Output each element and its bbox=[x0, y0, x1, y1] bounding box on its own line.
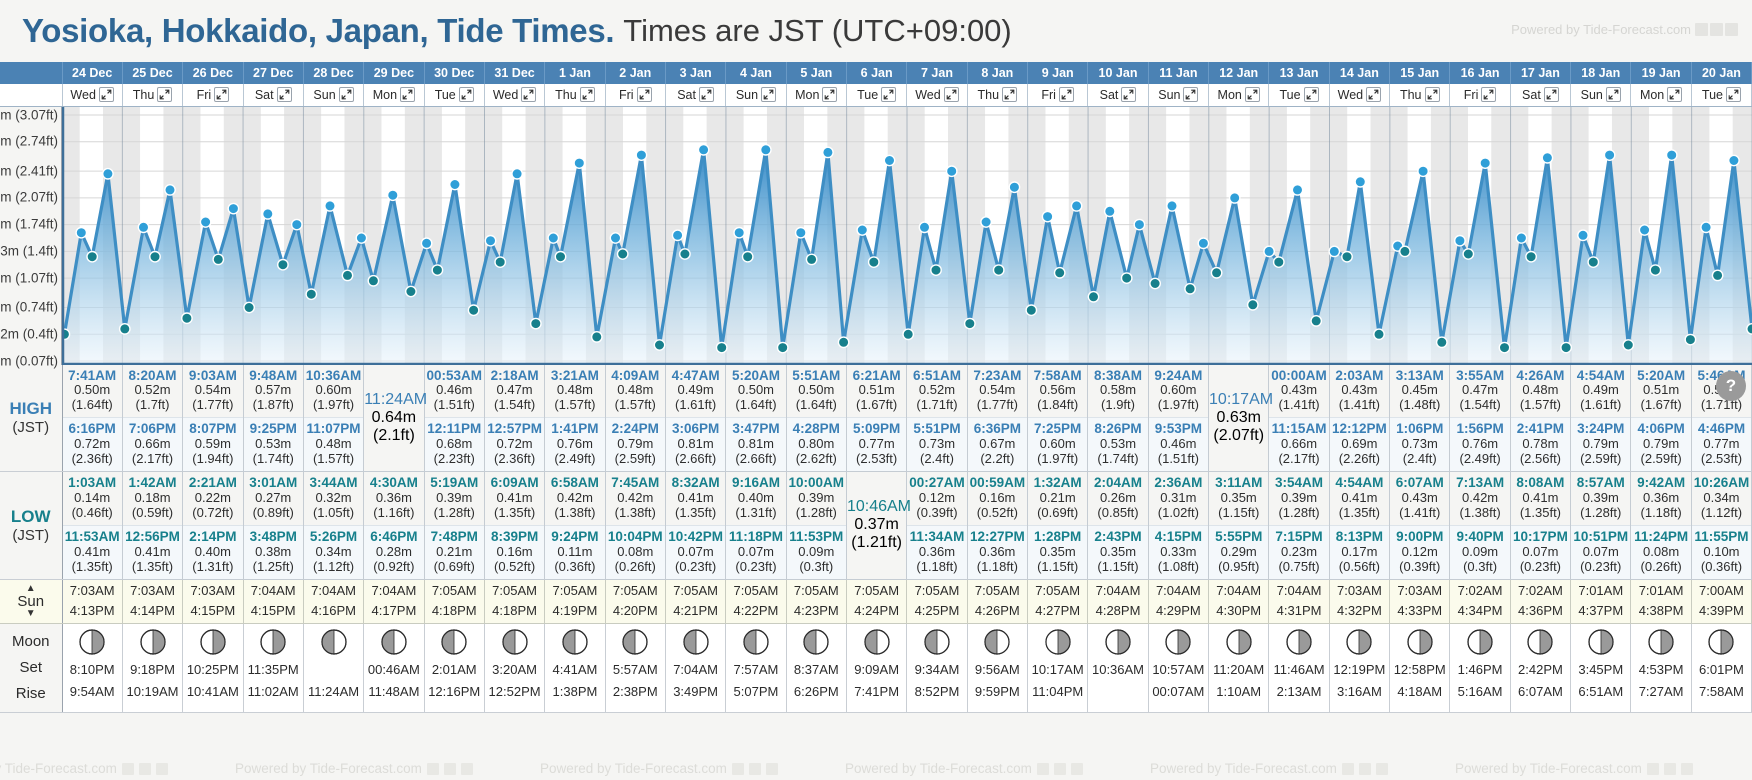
weekday-label-2: Fri bbox=[197, 88, 212, 102]
date-header-25[interactable]: 18 Jan bbox=[1571, 62, 1631, 84]
sun-cell-24: 7:02AM 4:36PM bbox=[1510, 579, 1570, 623]
tide-chart: 0.94m (3.07ft)0.84m (2.74ft)0.73m (2.41f… bbox=[0, 107, 1752, 365]
high-cell-24: 4:26AM 0.48m (1.57ft) 2:41PM 0.78m (2.56… bbox=[1510, 365, 1570, 472]
expand-day-icon-2[interactable] bbox=[214, 87, 229, 102]
high-meters: 0.73m bbox=[1390, 437, 1449, 452]
expand-day-icon-12[interactable] bbox=[822, 87, 837, 102]
high-cell-13: 6:21AM 0.51m (1.67ft) 5:09PM 0.77m (2.53… bbox=[846, 365, 906, 472]
expand-day-icon-13[interactable] bbox=[881, 87, 896, 102]
high-meters: 0.43m bbox=[1269, 383, 1328, 398]
high-event: 4:09AM 0.48m (1.57ft) bbox=[606, 365, 665, 418]
high-event: 7:23AM 0.54m (1.77ft) bbox=[968, 365, 1027, 418]
high-meters: 0.79m bbox=[1571, 437, 1630, 452]
moon-phase-icon bbox=[1406, 628, 1434, 659]
expand-day-icon-16[interactable] bbox=[1059, 87, 1074, 102]
date-header-22[interactable]: 15 Jan bbox=[1390, 62, 1450, 84]
moonrise-time: 4:18AM bbox=[1394, 684, 1446, 699]
low-event: 8:13PM 0.17m (0.56ft) bbox=[1330, 525, 1389, 579]
expand-day-icon-6[interactable] bbox=[459, 87, 474, 102]
weekday-cell-8: Thu bbox=[545, 84, 605, 106]
sun-cell-10: 7:05AM 4:21PM bbox=[665, 579, 725, 623]
low-event: 2:21AM 0.22m (0.72ft) bbox=[183, 472, 242, 525]
low-time: 2:43PM bbox=[1088, 529, 1147, 545]
sun-cell-2: 7:03AM 4:15PM bbox=[183, 579, 243, 623]
weekday-cell-7: Wed bbox=[484, 84, 544, 106]
moon-phase-icon bbox=[1587, 628, 1615, 659]
expand-day-icon-25[interactable] bbox=[1606, 87, 1621, 102]
date-header-24[interactable]: 17 Jan bbox=[1510, 62, 1570, 84]
low-time: 7:45AM bbox=[606, 475, 665, 491]
expand-day-icon-20[interactable] bbox=[1304, 87, 1319, 102]
high-meters: 0.60m bbox=[1028, 437, 1087, 452]
moon-phase-icon bbox=[802, 628, 830, 659]
low-event: 3:01AM 0.27m (0.89ft) bbox=[244, 472, 303, 525]
high-feet: (2.56ft) bbox=[1511, 452, 1570, 467]
high-time: 1:41PM bbox=[545, 421, 604, 437]
date-header-0[interactable]: 24 Dec bbox=[62, 62, 122, 84]
date-header-21[interactable]: 14 Jan bbox=[1329, 62, 1389, 84]
date-header-2[interactable]: 26 Dec bbox=[183, 62, 243, 84]
weekday-label-27: Tue bbox=[1702, 88, 1723, 102]
expand-day-icon-10[interactable] bbox=[699, 87, 714, 102]
weekday-cell-14: Wed bbox=[907, 84, 967, 106]
high-event: 5:20AM 0.50m (1.64ft) bbox=[726, 365, 785, 418]
tide-chart-cell: 0.94m (3.07ft)0.84m (2.74ft)0.73m (2.41f… bbox=[0, 106, 1752, 365]
date-header-14[interactable]: 7 Jan bbox=[907, 62, 967, 84]
sun-cell-25: 7:01AM 4:37PM bbox=[1571, 579, 1631, 623]
sunset-time: 4:36PM bbox=[1511, 601, 1570, 621]
low-event: 7:45AM 0.42m (1.38ft) bbox=[606, 472, 665, 525]
date-header-11[interactable]: 4 Jan bbox=[726, 62, 786, 84]
moon-cell-18: 10:57AM 00:07AM bbox=[1148, 623, 1208, 712]
high-meters: 0.53m bbox=[1088, 437, 1147, 452]
date-header-3[interactable]: 27 Dec bbox=[243, 62, 303, 84]
expand-day-icon-3[interactable] bbox=[277, 87, 292, 102]
high-time: 4:26AM bbox=[1511, 368, 1570, 384]
high-tide-label: HIGH (JST) bbox=[0, 365, 62, 472]
footer-watermark-icon-3 bbox=[1071, 763, 1083, 775]
high-time: 4:09AM bbox=[606, 368, 665, 384]
low-event: 8:08AM 0.41m (1.35ft) bbox=[1511, 472, 1570, 525]
moon-label-cell: Moon Set Rise bbox=[0, 623, 62, 712]
expand-day-icon-0[interactable] bbox=[99, 87, 114, 102]
sunset-time: 4:15PM bbox=[244, 601, 303, 621]
moonset-time: 9:18PM bbox=[126, 662, 178, 677]
high-feet: (1.48ft) bbox=[1390, 398, 1449, 413]
low-event: 2:14PM 0.40m (1.31ft) bbox=[183, 525, 242, 579]
moonset-time: 11:20AM bbox=[1213, 662, 1264, 677]
high-feet: (2.66ft) bbox=[726, 452, 785, 467]
low-feet: (1.18ft) bbox=[968, 560, 1027, 575]
high-feet: (1.54ft) bbox=[485, 398, 544, 413]
high-time: 11:15AM bbox=[1269, 421, 1328, 437]
high-event: 2:24PM 0.79m (2.59ft) bbox=[606, 417, 665, 471]
high-feet: (2.59ft) bbox=[1631, 452, 1690, 467]
high-feet: (2.17ft) bbox=[123, 452, 182, 467]
low-event: 00:59AM 0.16m (0.52ft) bbox=[968, 472, 1027, 525]
low-feet: (1.28ft) bbox=[787, 506, 846, 521]
sun-cell-16: 7:05AM 4:27PM bbox=[1028, 579, 1088, 623]
high-cell-9: 4:09AM 0.48m (1.57ft) 2:24PM 0.79m (2.59… bbox=[605, 365, 665, 472]
moonset-label-text: Set bbox=[19, 659, 42, 676]
moonset-time: 5:57AM bbox=[613, 662, 658, 677]
expand-day-icon-19[interactable] bbox=[1245, 87, 1260, 102]
low-time: 2:14PM bbox=[183, 529, 242, 545]
low-time: 11:55PM bbox=[1692, 529, 1751, 545]
moonset-time: 6:01PM bbox=[1699, 662, 1744, 677]
sunrise-time: 7:05AM bbox=[847, 581, 906, 601]
moon-cell-25: 3:45PM 6:51AM bbox=[1571, 623, 1631, 712]
low-time: 6:07AM bbox=[1390, 475, 1449, 491]
moonrise-time: 7:58AM bbox=[1699, 684, 1744, 699]
low-feet: (0.52ft) bbox=[968, 506, 1027, 521]
sunrise-time: 7:04AM bbox=[1149, 581, 1208, 601]
high-event: 8:38AM 0.58m (1.9ft) bbox=[1088, 365, 1147, 418]
moonrise-time: 12:16PM bbox=[428, 684, 480, 699]
high-event: 00:00AM 0.43m (1.41ft) bbox=[1269, 365, 1328, 418]
high-feet: (1.51ft) bbox=[425, 398, 484, 413]
low-time: 7:13AM bbox=[1450, 475, 1509, 491]
low-feet: (0.75ft) bbox=[1269, 560, 1328, 575]
moon-phase-icon bbox=[1225, 628, 1253, 659]
high-meters: 0.72m bbox=[63, 437, 122, 452]
low-time: 4:30AM bbox=[364, 475, 423, 491]
y-axis-tick-5: 0.43m (1.4ft) bbox=[0, 243, 58, 258]
high-cell-6: 00:53AM 0.46m (1.51ft) 12:11PM 0.68m (2.… bbox=[424, 365, 484, 472]
expand-day-icon-14[interactable] bbox=[944, 87, 959, 102]
low-cell-26: 9:42AM 0.36m (1.18ft) 11:24PM 0.08m (0.2… bbox=[1631, 472, 1691, 580]
low-time: 1:42AM bbox=[123, 475, 182, 491]
moon-cell-2: 10:25PM 10:41AM bbox=[183, 623, 243, 712]
low-meters: 0.09m bbox=[1450, 545, 1509, 560]
low-cell-0: 1:03AM 0.14m (0.46ft) 11:53AM 0.41m (1.3… bbox=[62, 472, 122, 580]
date-header-13[interactable]: 6 Jan bbox=[846, 62, 906, 84]
low-time: 4:15PM bbox=[1149, 529, 1208, 545]
expand-day-icon-26[interactable] bbox=[1667, 87, 1682, 102]
high-cell-18: 9:24AM 0.60m (1.97ft) 9:53PM 0.46m (1.51… bbox=[1148, 365, 1208, 472]
weekday-cell-24: Sat bbox=[1510, 84, 1570, 106]
date-header-9[interactable]: 2 Jan bbox=[605, 62, 665, 84]
expand-day-icon-4[interactable] bbox=[339, 87, 354, 102]
weekday-label-13: Tue bbox=[857, 88, 878, 102]
high-cell-3: 9:48AM 0.57m (1.87ft) 9:25PM 0.53m (1.74… bbox=[243, 365, 303, 472]
high-meters: 0.66m bbox=[1269, 437, 1328, 452]
high-feet: (1.51ft) bbox=[1149, 452, 1208, 467]
low-feet: (0.69ft) bbox=[425, 560, 484, 575]
expand-day-icon-15[interactable] bbox=[1002, 87, 1017, 102]
low-cell-8: 6:58AM 0.42m (1.38ft) 9:24PM 0.11m (0.36… bbox=[545, 472, 605, 580]
low-cell-10: 8:32AM 0.41m (1.35ft) 10:42PM 0.07m (0.2… bbox=[665, 472, 725, 580]
expand-day-icon-8[interactable] bbox=[580, 87, 595, 102]
moonrise-time: 9:54AM bbox=[70, 684, 115, 699]
high-tide-timezone: (JST) bbox=[0, 419, 62, 436]
footer-watermark-text: Powered by Tide-Forecast.com bbox=[845, 761, 1032, 776]
moon-phase-icon bbox=[1285, 628, 1313, 659]
high-time: 6:16PM bbox=[63, 421, 122, 437]
high-time: 9:48AM bbox=[244, 368, 303, 384]
low-event: 5:19AM 0.39m (1.28ft) bbox=[425, 472, 484, 525]
low-event: 10:46AM 0.37m (1.21ft) bbox=[847, 492, 906, 558]
low-feet: (1.16ft) bbox=[364, 506, 423, 521]
date-header-6[interactable]: 30 Dec bbox=[424, 62, 484, 84]
moon-cell-22: 12:58PM 4:18AM bbox=[1390, 623, 1450, 712]
expand-day-icon-21[interactable] bbox=[1366, 87, 1381, 102]
date-header-row: 24 Dec25 Dec26 Dec27 Dec28 Dec29 Dec30 D… bbox=[0, 62, 1752, 84]
sunrise-time: 7:02AM bbox=[1511, 581, 1570, 601]
low-event: 9:00PM 0.12m (0.39ft) bbox=[1390, 525, 1449, 579]
low-cell-24: 8:08AM 0.41m (1.35ft) 10:17PM 0.07m (0.2… bbox=[1510, 472, 1570, 580]
high-cell-2: 9:03AM 0.54m (1.77ft) 8:07PM 0.59m (1.94… bbox=[183, 365, 243, 472]
moon-cell-6: 2:01AM 12:16PM bbox=[424, 623, 484, 712]
high-time: 5:20AM bbox=[726, 368, 785, 384]
weekday-cell-2: Fri bbox=[183, 84, 243, 106]
expand-day-icon-24[interactable] bbox=[1544, 87, 1559, 102]
moon-phase-icon bbox=[440, 628, 468, 659]
moon-cell-4: 11:24AM bbox=[303, 623, 363, 712]
high-feet: (2.4ft) bbox=[907, 452, 966, 467]
high-meters: 0.50m bbox=[63, 383, 122, 398]
date-header-7[interactable]: 31 Dec bbox=[484, 62, 544, 84]
weekday-label-10: Sat bbox=[677, 88, 696, 102]
date-header-8[interactable]: 1 Jan bbox=[545, 62, 605, 84]
moon-phase-icon bbox=[923, 628, 951, 659]
sunset-time: 4:24PM bbox=[847, 601, 906, 621]
low-meters: 0.16m bbox=[485, 545, 544, 560]
expand-day-icon-27[interactable] bbox=[1726, 87, 1741, 102]
page-title: Yosioka, Hokkaido, Japan, Tide Times. bbox=[22, 12, 614, 50]
high-feet: (1.84ft) bbox=[1028, 398, 1087, 413]
low-cell-23: 7:13AM 0.42m (1.38ft) 9:40PM 0.09m (0.3f… bbox=[1450, 472, 1510, 580]
high-time: 7:23AM bbox=[968, 368, 1027, 384]
high-meters: 0.54m bbox=[968, 383, 1027, 398]
low-meters: 0.34m bbox=[304, 545, 363, 560]
sunset-time: 4:16PM bbox=[304, 601, 363, 621]
expand-day-icon-18[interactable] bbox=[1183, 87, 1198, 102]
low-feet: (1.02ft) bbox=[1149, 506, 1208, 521]
moonset-time: 10:36AM bbox=[1092, 662, 1144, 677]
date-header-17[interactable]: 10 Jan bbox=[1088, 62, 1148, 84]
chart-row: 0.94m (3.07ft)0.84m (2.74ft)0.73m (2.41f… bbox=[0, 106, 1752, 365]
date-header-18[interactable]: 11 Jan bbox=[1148, 62, 1208, 84]
moon-cell-15: 9:56AM 9:59PM bbox=[967, 623, 1027, 712]
high-meters: 0.48m bbox=[1511, 383, 1570, 398]
moon-cell-5: 00:46AM 11:48AM bbox=[364, 623, 424, 712]
low-event: 11:18PM 0.07m (0.23ft) bbox=[726, 525, 785, 579]
low-time: 2:21AM bbox=[183, 475, 242, 491]
high-event: 5:51PM 0.73m (2.4ft) bbox=[907, 417, 966, 471]
date-header-23[interactable]: 16 Jan bbox=[1450, 62, 1510, 84]
moonrise-time: 12:52PM bbox=[489, 684, 541, 699]
high-meters: 0.57m bbox=[244, 383, 303, 398]
high-meters: 0.50m bbox=[726, 383, 785, 398]
sunrise-time: 7:03AM bbox=[183, 581, 242, 601]
sunset-time: 4:15PM bbox=[183, 601, 242, 621]
expand-day-icon-22[interactable] bbox=[1425, 87, 1440, 102]
sunrise-time: 7:04AM bbox=[364, 581, 423, 601]
low-meters: 0.29m bbox=[1209, 545, 1268, 560]
high-event: 12:57PM 0.72m (2.36ft) bbox=[485, 417, 544, 471]
sun-cell-22: 7:03AM 4:33PM bbox=[1390, 579, 1450, 623]
sunset-time: 4:25PM bbox=[907, 601, 966, 621]
sunrise-time: 7:03AM bbox=[63, 581, 122, 601]
low-time: 3:48PM bbox=[244, 529, 303, 545]
high-feet: (2.36ft) bbox=[63, 452, 122, 467]
low-feet: (1.38ft) bbox=[545, 506, 604, 521]
low-meters: 0.23m bbox=[1269, 545, 1328, 560]
high-event: 4:28PM 0.80m (2.62ft) bbox=[787, 417, 846, 471]
high-cell-25: 4:54AM 0.49m (1.61ft) 3:24PM 0.79m (2.59… bbox=[1571, 365, 1631, 472]
moonrise-time bbox=[1092, 684, 1144, 699]
date-header-19[interactable]: 12 Jan bbox=[1209, 62, 1269, 84]
high-meters: 0.79m bbox=[606, 437, 665, 452]
high-meters: 0.77m bbox=[847, 437, 906, 452]
moon-phase-icon bbox=[199, 628, 227, 659]
sunset-time: 4:38PM bbox=[1631, 601, 1690, 621]
low-meters: 0.35m bbox=[1209, 491, 1268, 506]
high-cell-5: 11:24AM 0.64m (2.1ft) bbox=[364, 365, 424, 472]
date-header-20[interactable]: 13 Jan bbox=[1269, 62, 1329, 84]
chart-info-badge[interactable]: ? bbox=[1716, 371, 1746, 401]
date-header-27[interactable]: 20 Jan bbox=[1691, 62, 1751, 84]
low-cell-20: 3:54AM 0.39m (1.28ft) 7:15PM 0.23m (0.75… bbox=[1269, 472, 1329, 580]
moon-phase-icon bbox=[501, 628, 529, 659]
high-cell-23: 3:55AM 0.47m (1.54ft) 1:56PM 0.76m (2.49… bbox=[1450, 365, 1510, 472]
date-header-12[interactable]: 5 Jan bbox=[786, 62, 846, 84]
weekday-cell-4: Sun bbox=[303, 84, 363, 106]
low-meters: 0.22m bbox=[183, 491, 242, 506]
high-time: 2:18AM bbox=[485, 368, 544, 384]
high-event: 5:51AM 0.50m (1.64ft) bbox=[787, 365, 846, 418]
low-event: 10:17PM 0.07m (0.23ft) bbox=[1511, 525, 1570, 579]
date-header-5[interactable]: 29 Dec bbox=[364, 62, 424, 84]
moon-phase-icon bbox=[742, 628, 770, 659]
sunrise-time: 7:04AM bbox=[304, 581, 363, 601]
high-feet: (2.36ft) bbox=[485, 452, 544, 467]
low-feet: (1.15ft) bbox=[1028, 560, 1087, 575]
high-time: 4:47AM bbox=[666, 368, 725, 384]
weekday-label-25: Sun bbox=[1581, 88, 1603, 102]
moonrise-label-text: Rise bbox=[16, 685, 46, 702]
expand-day-icon-1[interactable] bbox=[157, 87, 172, 102]
low-feet: (0.36ft) bbox=[545, 560, 604, 575]
sunset-time: 4:28PM bbox=[1088, 601, 1147, 621]
high-feet: (2.59ft) bbox=[1571, 452, 1630, 467]
weekday-cell-19: Mon bbox=[1209, 84, 1269, 106]
low-feet: (1.15ft) bbox=[1209, 506, 1268, 521]
high-feet: (1.67ft) bbox=[1631, 398, 1690, 413]
expand-day-icon-11[interactable] bbox=[761, 87, 776, 102]
sunset-time: 4:13PM bbox=[63, 601, 122, 621]
moonrise-time: 3:16AM bbox=[1333, 684, 1385, 699]
expand-day-icon-17[interactable] bbox=[1121, 87, 1136, 102]
moonrise-time: 5:07PM bbox=[734, 684, 779, 699]
high-event: 7:06PM 0.66m (2.17ft) bbox=[123, 417, 182, 471]
moonset-time: 3:20AM bbox=[489, 662, 541, 677]
high-event: 8:07PM 0.59m (1.94ft) bbox=[183, 417, 242, 471]
moonset-time: 11:35PM bbox=[248, 662, 299, 677]
footer-watermark-text: Powered by Tide-Forecast.com bbox=[235, 761, 422, 776]
moonrise-time: 00:07AM bbox=[1152, 684, 1204, 699]
low-feet: (1.18ft) bbox=[1631, 506, 1690, 521]
high-event: 5:09PM 0.77m (2.53ft) bbox=[847, 417, 906, 471]
date-header-15[interactable]: 8 Jan bbox=[967, 62, 1027, 84]
expand-day-icon-9[interactable] bbox=[637, 87, 652, 102]
low-event: 10:51PM 0.07m (0.23ft) bbox=[1571, 525, 1630, 579]
date-header-16[interactable]: 9 Jan bbox=[1028, 62, 1088, 84]
low-feet: (1.18ft) bbox=[907, 560, 966, 575]
weekday-label-16: Fri bbox=[1041, 88, 1056, 102]
date-header-1[interactable]: 25 Dec bbox=[122, 62, 182, 84]
y-axis-tick-2: 0.73m (2.41ft) bbox=[0, 163, 58, 178]
low-feet: (0.92ft) bbox=[364, 560, 423, 575]
y-axis-tick-4: 0.53m (1.74ft) bbox=[0, 217, 58, 232]
moon-cell-14: 9:34AM 8:52PM bbox=[907, 623, 967, 712]
moonrise-time: 11:24AM bbox=[308, 684, 359, 699]
footer-watermark-strip: Powered by Tide-Forecast.com Powered by … bbox=[0, 758, 1752, 780]
sun-cell-4: 7:04AM 4:16PM bbox=[303, 579, 363, 623]
date-header-10[interactable]: 3 Jan bbox=[665, 62, 725, 84]
high-time: 10:17AM bbox=[1209, 391, 1268, 409]
low-event: 11:53PM 0.09m (0.3ft) bbox=[787, 525, 846, 579]
sun-cell-5: 7:04AM 4:17PM bbox=[364, 579, 424, 623]
low-cell-6: 5:19AM 0.39m (1.28ft) 7:48PM 0.21m (0.69… bbox=[424, 472, 484, 580]
low-time: 00:27AM bbox=[907, 475, 966, 491]
low-event: 10:00AM 0.39m (1.28ft) bbox=[787, 472, 846, 525]
moonrise-time: 9:59PM bbox=[975, 684, 1020, 699]
high-event: 4:26AM 0.48m (1.57ft) bbox=[1511, 365, 1570, 418]
weekday-label-22: Thu bbox=[1400, 88, 1422, 102]
sun-cell-0: 7:03AM 4:13PM bbox=[62, 579, 122, 623]
date-header-4[interactable]: 28 Dec bbox=[303, 62, 363, 84]
sunrise-time: 7:04AM bbox=[244, 581, 303, 601]
high-tide-label-text: HIGH bbox=[0, 399, 62, 419]
low-meters: 0.10m bbox=[1692, 545, 1751, 560]
high-event: 10:17AM 0.63m (2.07ft) bbox=[1209, 385, 1268, 451]
low-meters: 0.37m bbox=[847, 516, 906, 534]
low-meters: 0.14m bbox=[63, 491, 122, 506]
expand-day-icon-23[interactable] bbox=[1481, 87, 1496, 102]
low-meters: 0.39m bbox=[1269, 491, 1328, 506]
moon-cell-11: 7:57AM 5:07PM bbox=[726, 623, 786, 712]
low-time: 5:55PM bbox=[1209, 529, 1268, 545]
moonset-time: 00:46AM bbox=[368, 662, 420, 677]
weekday-label-4: Sun bbox=[313, 88, 335, 102]
high-feet: (1.64ft) bbox=[726, 398, 785, 413]
low-event: 10:04PM 0.08m (0.26ft) bbox=[606, 525, 665, 579]
low-meters: 0.42m bbox=[1450, 491, 1509, 506]
low-meters: 0.36m bbox=[1631, 491, 1690, 506]
high-meters: 0.46m bbox=[425, 383, 484, 398]
date-header-26[interactable]: 19 Jan bbox=[1631, 62, 1691, 84]
moon-phase-icon bbox=[380, 628, 408, 659]
expand-day-icon-5[interactable] bbox=[400, 87, 415, 102]
moon-phase-icon bbox=[561, 628, 589, 659]
high-feet: (1.57ft) bbox=[1511, 398, 1570, 413]
low-meters: 0.36m bbox=[968, 545, 1027, 560]
footer-watermark-icon-1 bbox=[1647, 763, 1659, 775]
low-meters: 0.41m bbox=[1330, 491, 1389, 506]
expand-day-icon-7[interactable] bbox=[521, 87, 536, 102]
low-time: 9:40PM bbox=[1450, 529, 1509, 545]
high-cell-7: 2:18AM 0.47m (1.54ft) 12:57PM 0.72m (2.3… bbox=[484, 365, 544, 472]
moonset-time: 10:17AM bbox=[1032, 662, 1084, 677]
low-event: 10:42PM 0.07m (0.23ft) bbox=[666, 525, 725, 579]
footer-watermark-icon-3 bbox=[766, 763, 778, 775]
low-time: 10:04PM bbox=[606, 529, 665, 545]
weekday-cell-10: Sat bbox=[665, 84, 725, 106]
weekday-label-24: Sat bbox=[1522, 88, 1541, 102]
moon-phase-icon bbox=[1044, 628, 1072, 659]
